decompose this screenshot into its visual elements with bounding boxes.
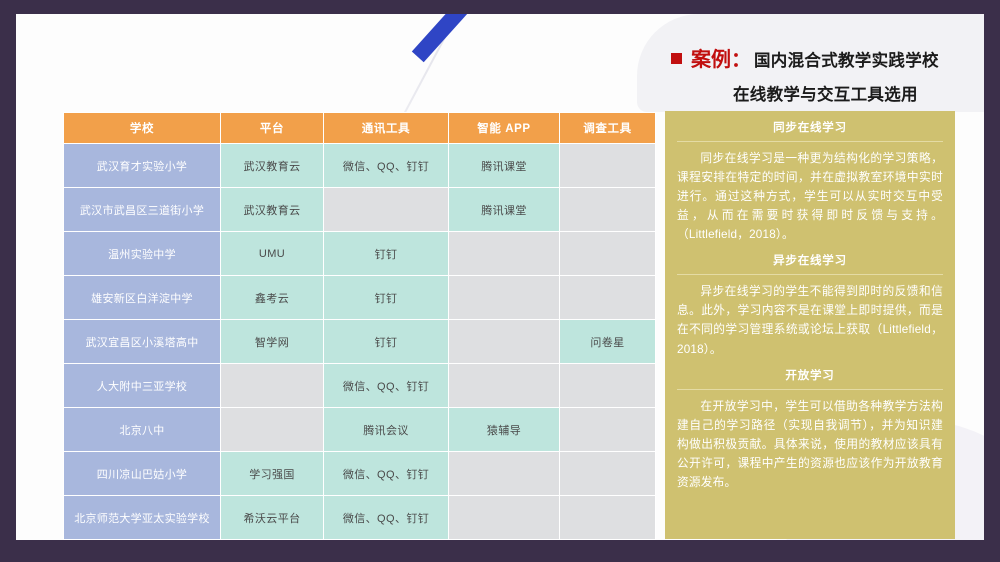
cell-platform <box>221 364 323 407</box>
tools-table: 学校 平台 通讯工具 智能 APP 调查工具 武汉育才实验小学武汉教育云微信、Q… <box>63 112 656 540</box>
table-row: 四川凉山巴姑小学学习强国微信、QQ、钉钉 <box>64 452 655 495</box>
cell-school: 武汉育才实验小学 <box>64 144 220 187</box>
cell-platform: UMU <box>221 232 323 275</box>
info-panel: 同步在线学习同步在线学习是一种更为结构化的学习策略，课程安排在特定的时间，并在虚… <box>665 111 955 539</box>
cell-school: 北京八中 <box>64 408 220 451</box>
cell-school: 武汉宜昌区小溪塔高中 <box>64 320 220 363</box>
cell-platform: 武汉教育云 <box>221 188 323 231</box>
cell-app: 腾讯课堂 <box>449 144 559 187</box>
cell-school: 人大附中三亚学校 <box>64 364 220 407</box>
cell-survey <box>560 188 655 231</box>
table-row: 人大附中三亚学校微信、QQ、钉钉 <box>64 364 655 407</box>
cell-comm: 微信、QQ、钉钉 <box>324 144 448 187</box>
cell-survey <box>560 232 655 275</box>
column-header-platform: 平台 <box>221 113 323 143</box>
table-row: 武汉育才实验小学武汉教育云微信、QQ、钉钉腾讯课堂 <box>64 144 655 187</box>
cell-comm: 微信、QQ、钉钉 <box>324 452 448 495</box>
cell-app <box>449 320 559 363</box>
cell-platform: 智学网 <box>221 320 323 363</box>
slide-frame: 案例： 国内混合式教学实践学校 在线教学与交互工具选用 学校 平台 通讯工具 智… <box>0 0 1000 562</box>
title-main-line2: 在线教学与交互工具选用 <box>671 81 984 105</box>
panel-section-title: 异步在线学习 <box>677 252 943 275</box>
table-row: 温州实验中学UMU钉钉 <box>64 232 655 275</box>
cell-comm <box>324 188 448 231</box>
table-row: 北京八中腾讯会议猿辅导 <box>64 408 655 451</box>
cell-platform: 武汉教育云 <box>221 144 323 187</box>
cell-school: 雄安新区白洋淀中学 <box>64 276 220 319</box>
cell-survey <box>560 364 655 407</box>
cell-comm: 微信、QQ、钉钉 <box>324 496 448 539</box>
cell-survey <box>560 496 655 539</box>
slide-canvas: 案例： 国内混合式教学实践学校 在线教学与交互工具选用 学校 平台 通讯工具 智… <box>16 14 984 540</box>
cell-survey: 问卷星 <box>560 320 655 363</box>
column-header-survey: 调查工具 <box>560 113 655 143</box>
cell-app <box>449 452 559 495</box>
panel-section-title: 开放学习 <box>677 367 943 390</box>
cell-platform: 鑫考云 <box>221 276 323 319</box>
title-main-line1: 国内混合式教学实践学校 <box>754 47 939 71</box>
panel-section-body: 同步在线学习是一种更为结构化的学习策略，课程安排在特定的时间，并在虚拟教室环境中… <box>677 149 943 244</box>
cell-app <box>449 496 559 539</box>
table-row: 武汉市武昌区三道街小学武汉教育云腾讯课堂 <box>64 188 655 231</box>
cell-survey <box>560 452 655 495</box>
square-bullet-icon <box>671 53 682 64</box>
cell-platform <box>221 408 323 451</box>
cell-school: 武汉市武昌区三道街小学 <box>64 188 220 231</box>
table-row: 武汉宜昌区小溪塔高中智学网钉钉问卷星 <box>64 320 655 363</box>
cell-app <box>449 364 559 407</box>
cell-platform: 希沃云平台 <box>221 496 323 539</box>
cell-survey <box>560 276 655 319</box>
cell-platform: 学习强国 <box>221 452 323 495</box>
panel-section-title: 同步在线学习 <box>677 119 943 142</box>
column-header-app: 智能 APP <box>449 113 559 143</box>
title-line-1: 案例： 国内混合式教学实践学校 <box>671 43 984 72</box>
column-header-school: 学校 <box>64 113 220 143</box>
cell-app: 猿辅导 <box>449 408 559 451</box>
cell-app <box>449 276 559 319</box>
table-header-row: 学校 平台 通讯工具 智能 APP 调查工具 <box>64 113 655 143</box>
table-row: 北京师范大学亚太实验学校希沃云平台微信、QQ、钉钉 <box>64 496 655 539</box>
page-title: 案例： 国内混合式教学实践学校 在线教学与交互工具选用 <box>671 43 984 105</box>
cell-school: 四川凉山巴姑小学 <box>64 452 220 495</box>
blue-diagonal-ribbon-icon <box>412 14 472 62</box>
cell-app <box>449 232 559 275</box>
cell-comm: 钉钉 <box>324 320 448 363</box>
panel-section-body: 异步在线学习的学生不能得到即时的反馈和信息。此外，学习内容不是在课堂上即时提供，… <box>677 282 943 358</box>
cell-comm: 腾讯会议 <box>324 408 448 451</box>
cell-survey <box>560 144 655 187</box>
cell-app: 腾讯课堂 <box>449 188 559 231</box>
column-header-comm: 通讯工具 <box>324 113 448 143</box>
table-row: 雄安新区白洋淀中学鑫考云钉钉 <box>64 276 655 319</box>
cell-school: 北京师范大学亚太实验学校 <box>64 496 220 539</box>
panel-section-body: 在开放学习中，学生可以借助各种教学方法构建自己的学习路径（实现自我调节），并为知… <box>677 397 943 492</box>
table-body: 武汉育才实验小学武汉教育云微信、QQ、钉钉腾讯课堂武汉市武昌区三道街小学武汉教育… <box>64 144 655 539</box>
cell-comm: 钉钉 <box>324 276 448 319</box>
title-kicker: 案例： <box>691 43 751 72</box>
cell-comm: 钉钉 <box>324 232 448 275</box>
cell-comm: 微信、QQ、钉钉 <box>324 364 448 407</box>
cell-survey <box>560 408 655 451</box>
cell-school: 温州实验中学 <box>64 232 220 275</box>
